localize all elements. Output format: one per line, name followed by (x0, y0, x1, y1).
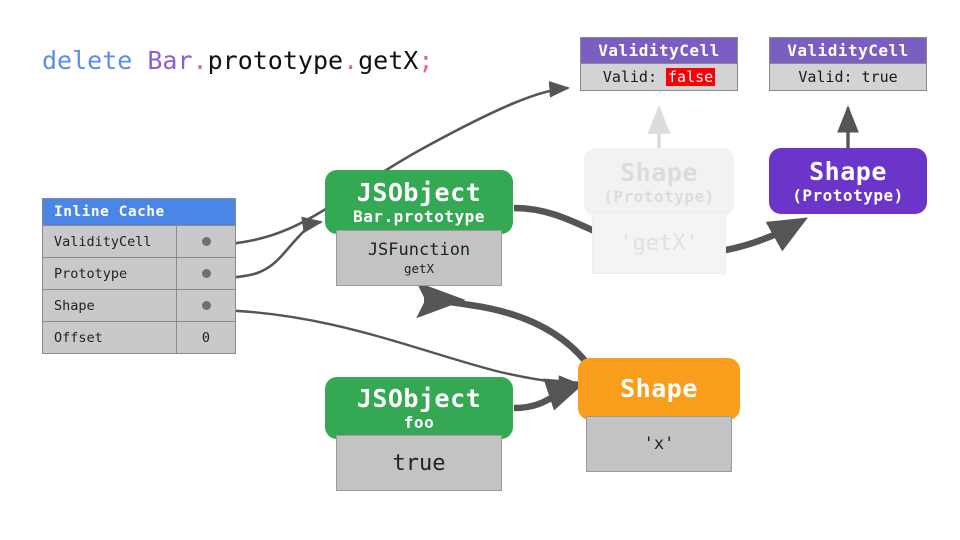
node-body-text: JSFunction (368, 240, 470, 261)
inline-cache-value-shape (177, 290, 236, 322)
inline-cache-title: Inline Cache (42, 198, 236, 226)
node-subtitle: foo (404, 413, 434, 432)
inline-cache-value-validitycell (177, 226, 236, 258)
inline-cache-key-validitycell: ValidityCell (42, 226, 177, 258)
node-subtitle: Bar.prototype (353, 207, 485, 226)
validity-cell-status: Valid: false (580, 64, 738, 91)
node-shape-old-prototype: Shape (Prototype) 'getX' (584, 148, 734, 274)
inline-cache-value-offset: 0 (177, 322, 236, 354)
node-shape-new-prototype: Shape (Prototype) (769, 148, 927, 214)
node-body: JSFunction getX (336, 230, 502, 286)
validity-cell-label: Valid: (603, 68, 657, 86)
node-subtitle: (Prototype) (792, 186, 903, 205)
node-title: Shape (620, 375, 698, 403)
validity-cell-title: ValidityCell (769, 37, 927, 64)
node-bar-prototype: JSObject Bar.prototype JSFunction getX (325, 170, 513, 286)
node-header: Shape (578, 358, 740, 420)
node-body: 'x' (586, 416, 732, 472)
table-row: Prototype (42, 258, 236, 290)
table-row: Offset 0 (42, 322, 236, 354)
code-token-getx: getX (358, 46, 418, 75)
code-token-semicolon: ; (418, 46, 433, 75)
validity-cell-invalidated: ValidityCell Valid: false (580, 37, 738, 91)
node-shape-foo: Shape 'x' (578, 358, 740, 472)
validity-cell-title: ValidityCell (580, 37, 738, 64)
edge-ic-shape-to-shape-foo (214, 310, 576, 383)
edge-shape-foo-to-bar-prototype-body (424, 300, 586, 362)
node-body-text: true (393, 453, 446, 474)
table-row: ValidityCell (42, 226, 236, 258)
node-header: Shape (Prototype) (584, 148, 734, 216)
code-line: delete Bar.prototype.getX; (42, 46, 433, 75)
validity-cell-status: Valid: true (769, 64, 927, 91)
node-body-subtext: getX (404, 261, 434, 277)
node-body: true (336, 435, 502, 491)
inline-cache-value-prototype (177, 258, 236, 290)
node-title: JSObject (357, 385, 481, 413)
code-token-keyword: delete (42, 46, 132, 75)
node-foo: JSObject foo true (325, 377, 513, 491)
pointer-dot-icon (202, 301, 211, 310)
inline-cache-key-offset: Offset (42, 322, 177, 354)
edge-foo-to-shape-foo (514, 385, 577, 408)
validity-cell-value: true (862, 68, 898, 86)
inline-cache-table: Inline Cache ValidityCell Prototype Shap… (42, 198, 236, 354)
code-token-space (132, 46, 147, 75)
node-header: Shape (Prototype) (769, 148, 927, 214)
code-token-identifier: Bar (147, 46, 192, 75)
pointer-dot-icon (202, 237, 211, 246)
diagram-canvas: delete Bar.prototype.getX; Inline Cache … (0, 0, 960, 540)
pointer-dot-icon (202, 269, 211, 278)
node-body-text: 'getX' (619, 233, 698, 254)
inline-cache-key-prototype: Prototype (42, 258, 177, 290)
code-token-dot-2: . (343, 46, 358, 75)
node-title: Shape (620, 159, 698, 187)
code-token-prototype: prototype (208, 46, 343, 75)
node-header: JSObject foo (325, 377, 513, 439)
code-token-dot-1: . (193, 46, 208, 75)
node-body: 'getX' (592, 212, 726, 274)
node-body-text: 'x' (644, 434, 675, 455)
node-header: JSObject Bar.prototype (325, 170, 513, 234)
validity-cell-label: Valid: (798, 68, 852, 86)
node-title: JSObject (357, 179, 481, 207)
inline-cache-key-shape: Shape (42, 290, 177, 322)
table-row: Shape (42, 290, 236, 322)
node-subtitle: (Prototype) (603, 187, 714, 206)
validity-cell-value: false (666, 68, 715, 86)
validity-cell-fresh: ValidityCell Valid: true (769, 37, 927, 91)
node-title: Shape (809, 158, 887, 186)
